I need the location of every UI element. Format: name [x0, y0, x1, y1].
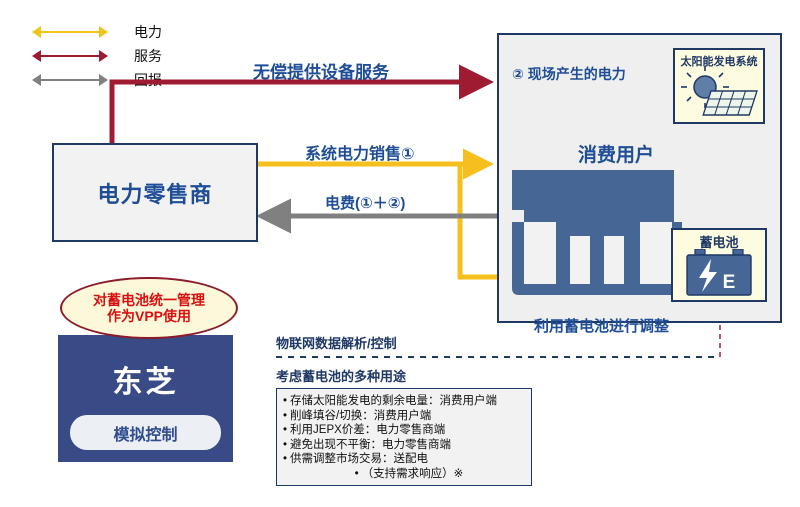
battery-uses-box: 存储太阳能发电的剩余电量：消费用户端 削峰填谷/切换：消费用户端 利用JEPX价…: [276, 388, 532, 486]
edge-label-fee: 电费(①＋②): [325, 192, 405, 213]
battery-icon: E: [685, 249, 755, 297]
retailer-label: 电力零售商: [97, 177, 212, 209]
battery-uses-heading: 考虑蓄电池的多种用途: [276, 366, 406, 385]
toshiba-brand-label: 东芝: [58, 357, 233, 401]
double-arrow-icon: [32, 73, 108, 87]
battery-uses-list: 存储太阳能发电的剩余电量：消费用户端 削峰填谷/切换：消费用户端 利用JEPX价…: [283, 394, 525, 482]
list-item: 利用JEPX价差：电力零售商端: [283, 423, 525, 438]
battery-storage-box[interactable]: 蓄电池 E: [671, 228, 767, 302]
double-arrow-icon: [32, 25, 108, 39]
solar-panel-icon: [675, 65, 763, 121]
vpp-callout-line2: 作为VPP使用: [107, 308, 191, 324]
diagram-canvas: 电力 服务 回报: [0, 0, 800, 507]
legend: 电力 服务 回报: [24, 20, 204, 92]
edge-label-battery-adjust: 利用蓄电池进行调整: [534, 315, 669, 336]
legend-item-service: 服务: [24, 44, 204, 68]
legend-label-service: 服务: [134, 49, 162, 63]
list-item: 避免出现不平衡：电力零售商端: [283, 438, 525, 453]
edge-label-grid-sale: 系统电力销售①: [305, 140, 415, 164]
legend-label-return: 回报: [134, 73, 162, 87]
list-item: 削峰填谷/切换：消费用户端: [283, 409, 525, 424]
notes-divider: [276, 356, 720, 358]
consumer-title: 消费用户: [578, 140, 654, 167]
legend-label-power: 电力: [134, 25, 162, 39]
building-icon: [512, 170, 682, 295]
onsite-power-label: ② 现场产生的电力: [512, 64, 626, 84]
solar-generation-box[interactable]: 太阳能发电系统: [673, 48, 765, 124]
list-item: 存储太阳能发电的剩余电量：消费用户端: [283, 394, 525, 409]
iot-control-heading: 物联网数据解析/控制: [276, 333, 397, 352]
svg-text:E: E: [723, 272, 736, 293]
toshiba-box[interactable]: 东芝 模拟控制: [58, 335, 233, 462]
vpp-callout: 对蓄电池统一管理 作为VPP使用: [60, 277, 238, 339]
legend-item-return: 回报: [24, 68, 204, 92]
edge-label-service: 无偿提供设备服务: [253, 58, 389, 83]
simulation-control-button[interactable]: 模拟控制: [70, 415, 221, 450]
list-item: 供需调整市场交易：送配电: [283, 452, 525, 467]
list-item-continuation: （支持需求响应）※: [283, 467, 525, 482]
electricity-retailer-box[interactable]: 电力零售商: [52, 143, 258, 242]
legend-item-power: 电力: [24, 20, 204, 44]
vpp-callout-line1: 对蓄电池统一管理: [93, 292, 205, 308]
double-arrow-icon: [32, 49, 108, 63]
